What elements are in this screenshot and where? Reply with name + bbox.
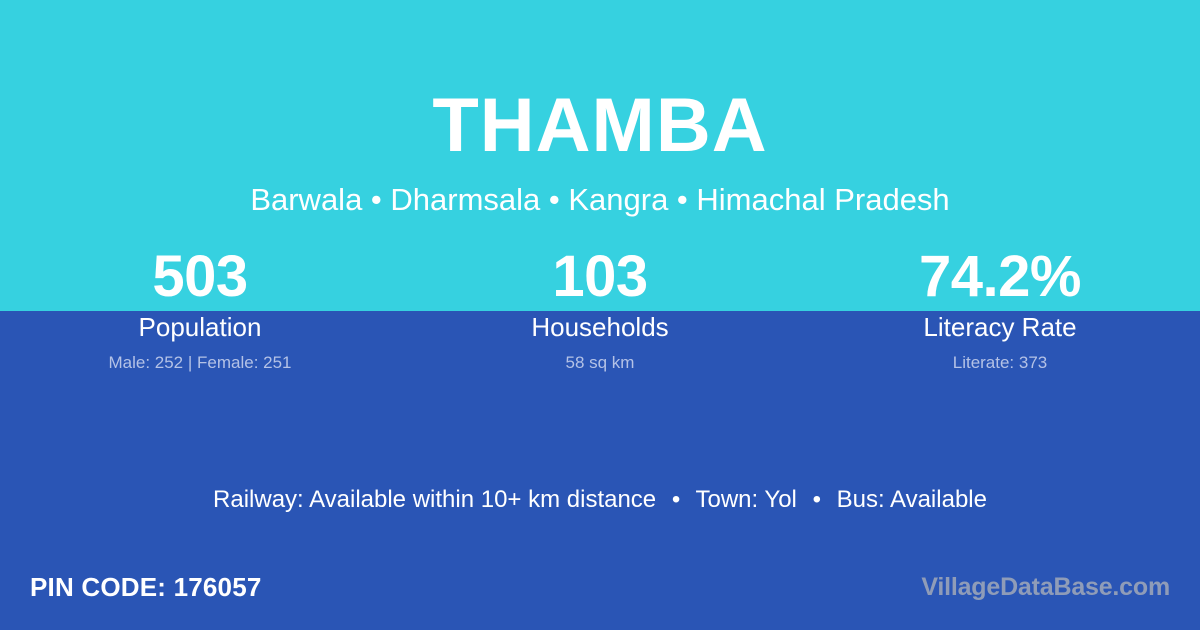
stat-sub-households: 58 sq km	[400, 351, 800, 375]
amenity-bus: Bus: Available	[837, 486, 987, 513]
amenity-railway: Railway: Available within 10+ km distanc…	[213, 486, 656, 513]
stats-row: 503 Population Male: 252 | Female: 251 1…	[0, 246, 1200, 386]
stat-population: 503 Population Male: 252 | Female: 251	[0, 246, 400, 386]
stat-literacy-rate: 74.2% Literacy Rate Literate: 373	[800, 246, 1200, 386]
stat-label-population: Population	[0, 310, 400, 344]
stat-label-households: Households	[400, 310, 800, 344]
stat-households: 103 Households 58 sq km	[400, 246, 800, 386]
stat-value-literacy-rate: 74.2%	[800, 246, 1200, 308]
stat-sub-population: Male: 252 | Female: 251	[0, 351, 400, 375]
amenity-separator-icon: •	[663, 486, 689, 513]
page-title: THAMBA	[0, 84, 1200, 168]
amenity-separator-icon: •	[804, 486, 830, 513]
pin-code: PIN CODE: 176057	[30, 571, 262, 603]
amenities-row: Railway: Available within 10+ km distanc…	[0, 485, 1200, 515]
village-info-card: THAMBA Barwala • Dharmsala • Kangra • Hi…	[0, 0, 1200, 630]
amenity-town: Town: Yol	[695, 486, 796, 513]
stat-label-literacy-rate: Literacy Rate	[800, 310, 1200, 344]
stat-value-households: 103	[400, 246, 800, 308]
stat-sub-literacy-rate: Literate: 373	[800, 351, 1200, 375]
site-watermark: VillageDataBase.com	[921, 571, 1170, 603]
stat-value-population: 503	[0, 246, 400, 308]
breadcrumb: Barwala • Dharmsala • Kangra • Himachal …	[0, 182, 1200, 218]
